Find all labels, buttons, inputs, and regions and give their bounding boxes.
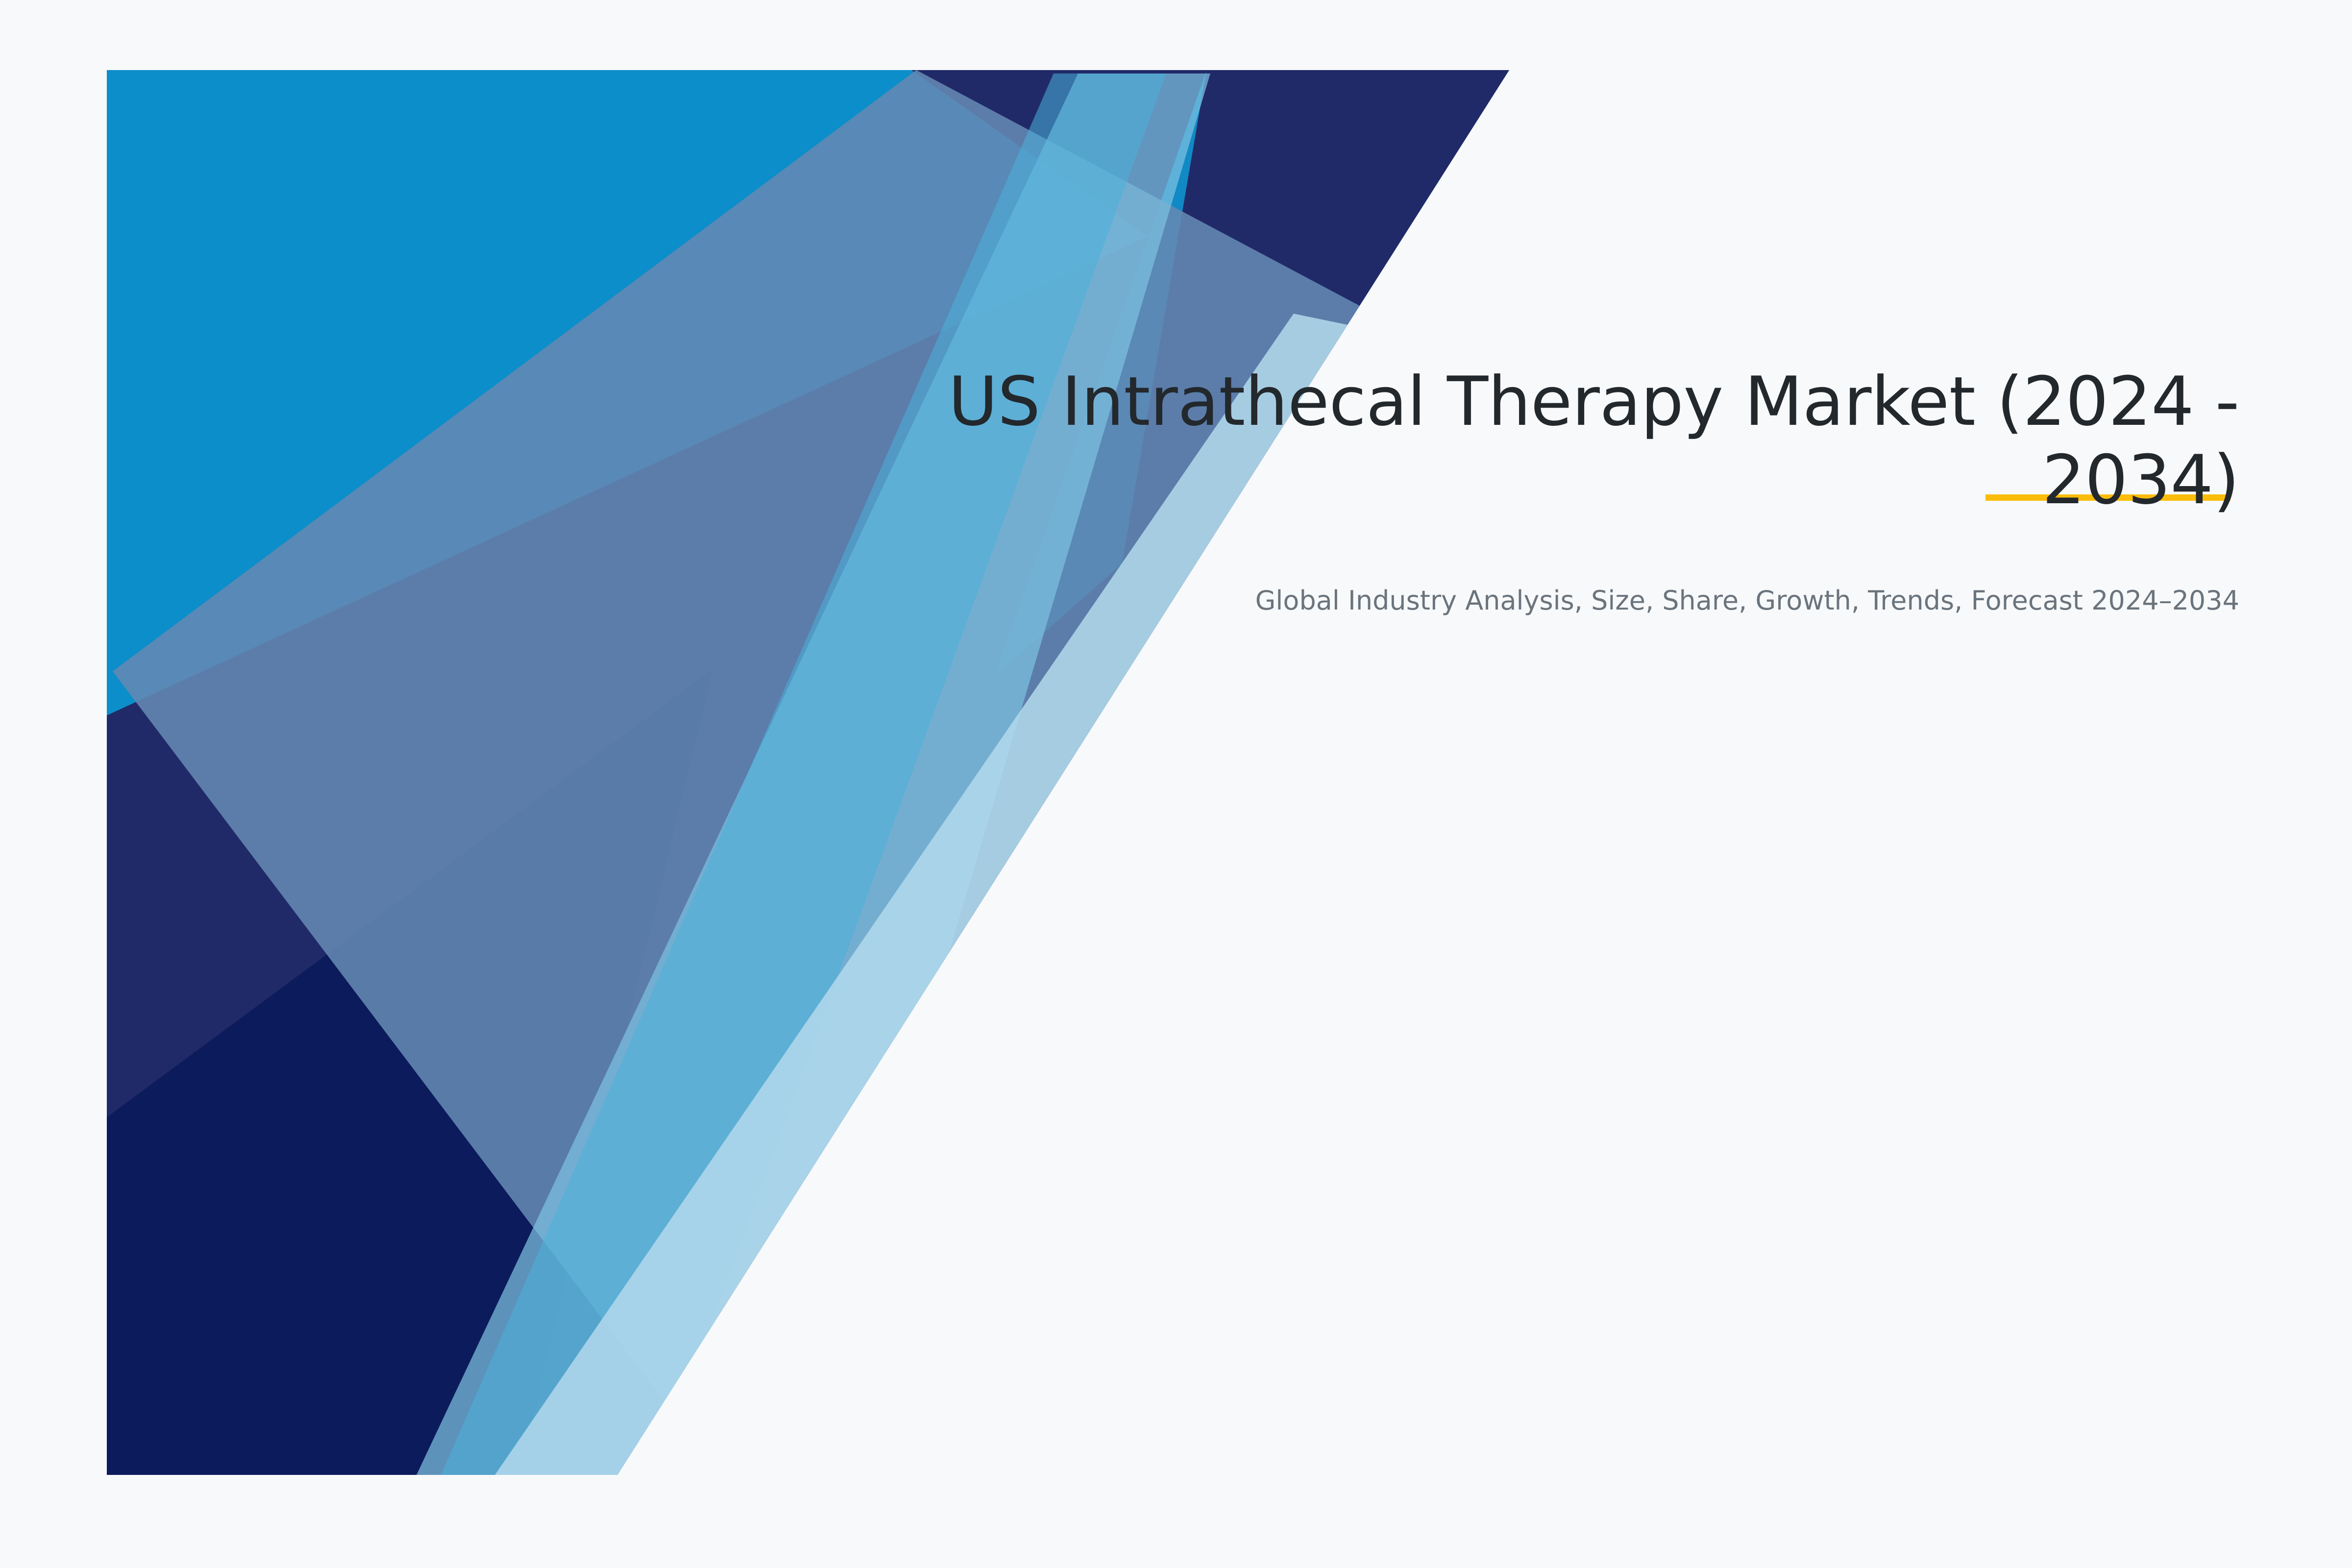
- title-wrap: US Intrathecal Therapy Market (2024 - 20…: [872, 363, 2239, 519]
- navy-wedge: [107, 70, 1509, 1475]
- cover-text-block: US Intrathecal Therapy Market (2024 - 20…: [872, 363, 2239, 620]
- cyan-field: [107, 70, 1528, 1491]
- page-title: US Intrathecal Therapy Market (2024 - 20…: [872, 363, 2239, 519]
- bright-cyan-band: [441, 73, 1166, 1475]
- deep-navy-spike: [107, 669, 713, 1475]
- steel-blue-overlay: [113, 70, 1411, 1475]
- sky-blue-band: [416, 73, 1210, 1475]
- page-subtitle: Global Industry Analysis, Size, Share, G…: [872, 582, 2239, 620]
- report-cover: US Intrathecal Therapy Market (2024 - 20…: [0, 0, 2352, 1568]
- abstract-geometric-artwork: [0, 0, 2352, 1568]
